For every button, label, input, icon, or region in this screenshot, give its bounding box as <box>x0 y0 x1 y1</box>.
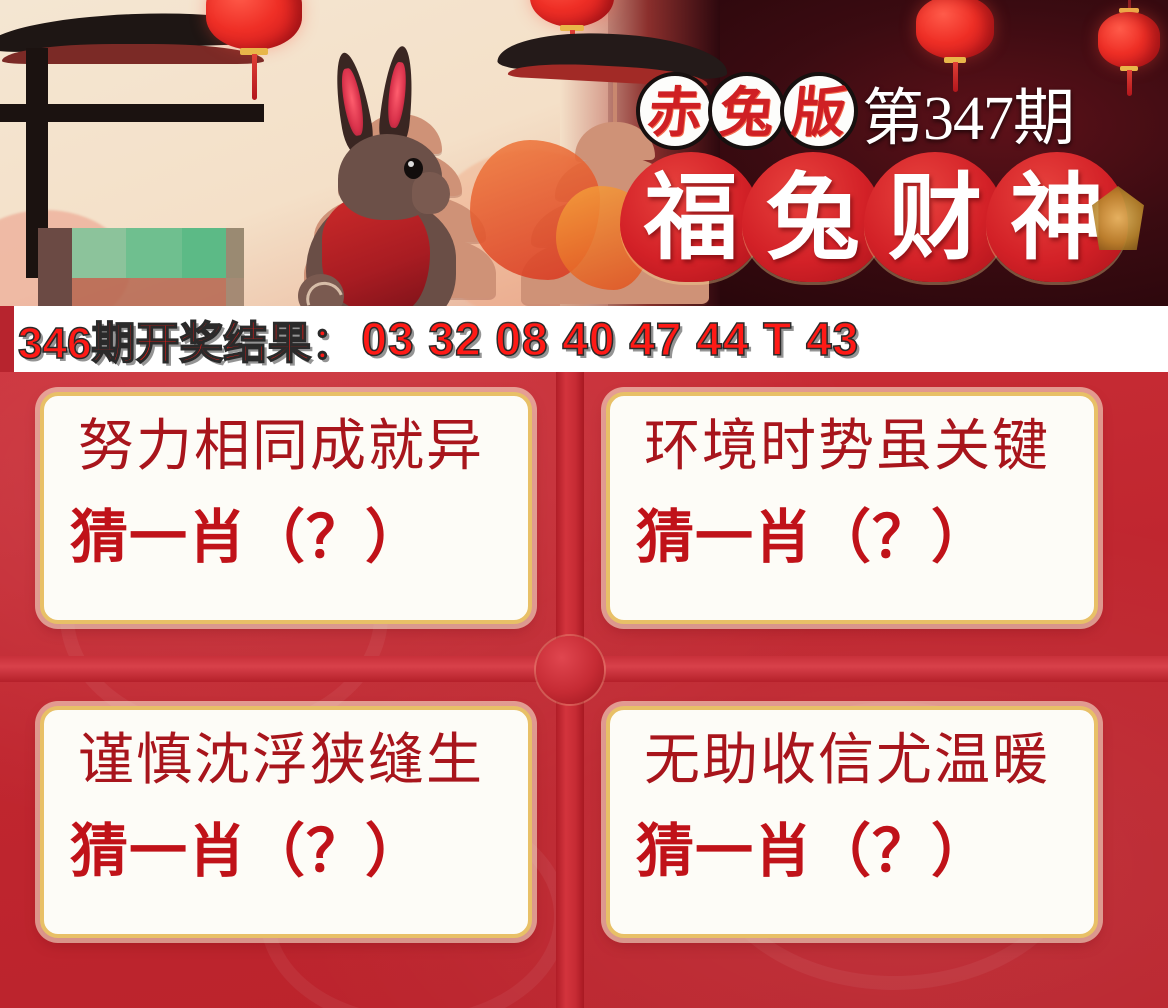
riddle-text: 无助收信尤温暖 <box>644 730 1074 792</box>
header-artwork: 赤 兔 版 第347期 福 兔 财 神 <box>0 0 1168 312</box>
riddle-prompt: 猜一肖（？） <box>70 820 516 884</box>
result-numbers: 03 32 08 40 47 44 T 43 <box>361 312 859 366</box>
title-char: 财 <box>864 160 1006 280</box>
riddle-text: 环境时势虽关键 <box>644 416 1074 478</box>
riddle-text: 努力相同成就异 <box>78 416 508 478</box>
result-banner: 346期开奖结果： 03 32 08 40 47 44 T 43 <box>0 306 1168 372</box>
riddle-card[interactable]: 环境时势虽关键 猜一肖（？） <box>606 392 1098 624</box>
riddle-prompt: 猜一肖（？） <box>636 820 1082 884</box>
poster-root: 赤 兔 版 第347期 福 兔 财 神 346期开奖结果： 03 32 08 4… <box>0 0 1168 1008</box>
riddle-prompt: 猜一肖（？） <box>70 506 516 570</box>
riddle-text: 谨慎沈浮狭缝生 <box>78 730 508 792</box>
result-label: 346期开奖结果： <box>18 307 355 371</box>
issue-label: 第347期 <box>862 88 1074 150</box>
title-char: 福 <box>620 160 762 280</box>
banner-left-edge <box>0 306 14 372</box>
lantern-icon <box>206 0 302 116</box>
riddle-card[interactable]: 努力相同成就异 猜一肖（？） <box>40 392 532 624</box>
riddle-prompt: 猜一肖（？） <box>636 506 1082 570</box>
mosaic-censor-block <box>38 228 244 306</box>
ribbon-knot <box>536 636 604 704</box>
riddle-card[interactable]: 谨慎沈浮狭缝生 猜一肖（？） <box>40 706 532 938</box>
title-plaque: 福 兔 财 神 <box>620 152 1130 282</box>
rabbit-icon <box>300 46 510 312</box>
badge-char: 版 <box>776 74 862 152</box>
lantern-icon <box>1098 6 1160 136</box>
edition-badge: 赤 兔 版 <box>636 72 858 156</box>
riddle-card[interactable]: 无助收信尤温暖 猜一肖（？） <box>606 706 1098 938</box>
title-char: 兔 <box>742 160 884 280</box>
